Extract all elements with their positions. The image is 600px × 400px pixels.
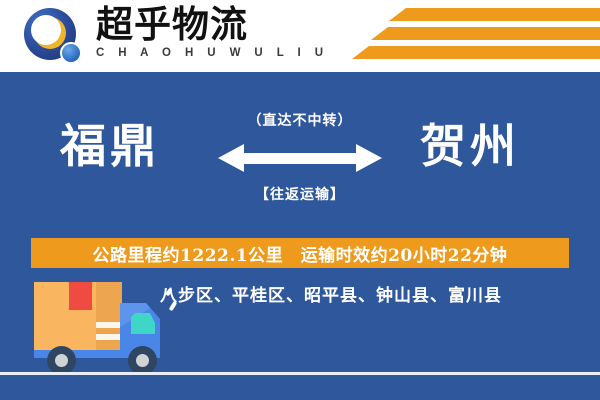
- truck-front-wheel: [128, 346, 157, 375]
- content-panel: 福鼎 （直达不中转） 【往返运输】 贺州 公路里程约1222.1公里 运输时效约…: [0, 72, 600, 400]
- logo-dot-icon: [60, 42, 82, 64]
- truck-window: [131, 313, 155, 334]
- wheel-hub: [136, 354, 149, 367]
- distance-duration-banner: 公路里程约1222.1公里 运输时效约20小时22分钟: [31, 238, 569, 268]
- brand-name-cn: 超乎物流: [96, 4, 356, 44]
- logistics-route-card: 超乎物流 C H A O H U W U L I U 福鼎 （直达不中转） 【往…: [0, 0, 600, 400]
- arrow-left-icon: [218, 144, 300, 172]
- origin-city: 福鼎: [10, 118, 210, 174]
- coverage-regions: 八步区、平桂区、昭平县、钟山县、富川县: [160, 278, 560, 308]
- brand-text-block: 超乎物流 C H A O H U W U L I U: [96, 4, 356, 59]
- stripe-bottom: [352, 46, 600, 59]
- roundtrip-note: 【往返运输】: [218, 184, 382, 204]
- brand-logo: [22, 6, 92, 68]
- coverage-regions-text: 八步区、平桂区、昭平县、钟山县、富川县: [160, 281, 502, 306]
- stripe-top: [389, 8, 600, 21]
- distance-duration-text: 公路里程约1222.1公里 运输时效约20小时22分钟: [93, 241, 508, 266]
- double-arrow-icon: [218, 136, 382, 180]
- route-middle-block: （直达不中转） 【往返运输】: [218, 110, 382, 220]
- brand-name-en: C H A O H U W U L I U: [96, 47, 356, 59]
- stripe-middle: [371, 27, 600, 40]
- route-row: 福鼎 （直达不中转） 【往返运输】 贺州: [0, 72, 600, 232]
- wheel-hub: [55, 354, 68, 367]
- divider-line: [0, 372, 600, 375]
- logo-crescent-cutout-icon: [31, 15, 61, 45]
- header-bar: 超乎物流 C H A O H U W U L I U: [0, 0, 600, 72]
- truck-rear-wheel: [47, 346, 76, 375]
- direct-note: （直达不中转）: [218, 110, 382, 130]
- destination-city: 贺州: [370, 118, 570, 174]
- delivery-truck-icon: [28, 278, 173, 372]
- truck-box-label: [69, 282, 92, 310]
- speed-stripes-icon: [350, 8, 600, 66]
